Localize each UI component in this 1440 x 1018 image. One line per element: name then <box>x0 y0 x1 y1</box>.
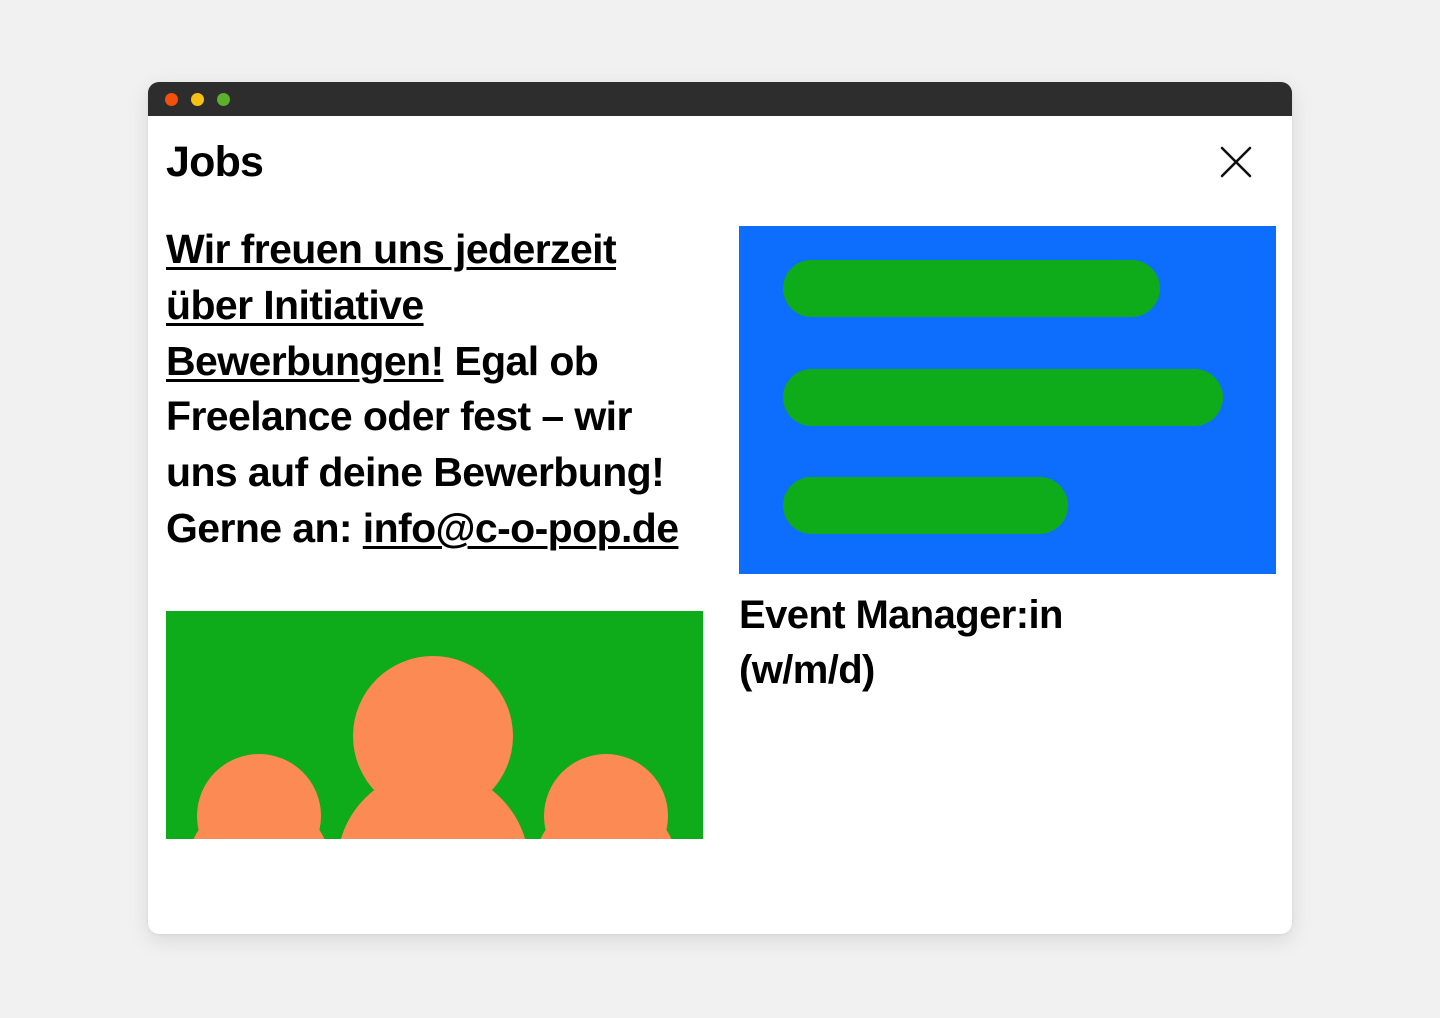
job-card[interactable]: Event Manager:in (w/m/d) <box>739 226 1292 698</box>
minimize-traffic-light[interactable] <box>191 93 204 106</box>
page-header: Jobs <box>148 116 1292 208</box>
thumbnail-bar-2 <box>783 369 1223 426</box>
close-traffic-light[interactable] <box>165 93 178 106</box>
left-column: Wir freuen uns jederzeit über Initiative… <box>166 208 703 839</box>
maximize-traffic-light[interactable] <box>217 93 230 106</box>
people-image[interactable] <box>166 611 703 839</box>
right-column: Event Manager:in (w/m/d) <box>739 208 1292 698</box>
email-link[interactable]: info@c-o-pop.de <box>363 501 679 557</box>
intro-text-block: Wir freuen uns jederzeit über Initiative… <box>166 222 703 557</box>
thumbnail-bar-1 <box>783 260 1160 317</box>
window-titlebar[interactable] <box>148 82 1292 116</box>
page-background: Jobs Wir freuen uns jederzeit über Initi… <box>0 0 1440 1018</box>
job-title[interactable]: Event Manager:in (w/m/d) <box>739 588 1209 698</box>
browser-window: Jobs Wir freuen uns jederzeit über Initi… <box>148 82 1292 934</box>
close-button[interactable] <box>1214 140 1258 184</box>
people-illustration <box>166 611 703 839</box>
thumbnail-bar-3 <box>783 477 1068 534</box>
main-content: Wir freuen uns jederzeit über Initiative… <box>148 208 1292 839</box>
job-thumbnail[interactable] <box>739 226 1276 574</box>
page-title: Jobs <box>166 141 263 184</box>
close-icon <box>1219 145 1253 179</box>
